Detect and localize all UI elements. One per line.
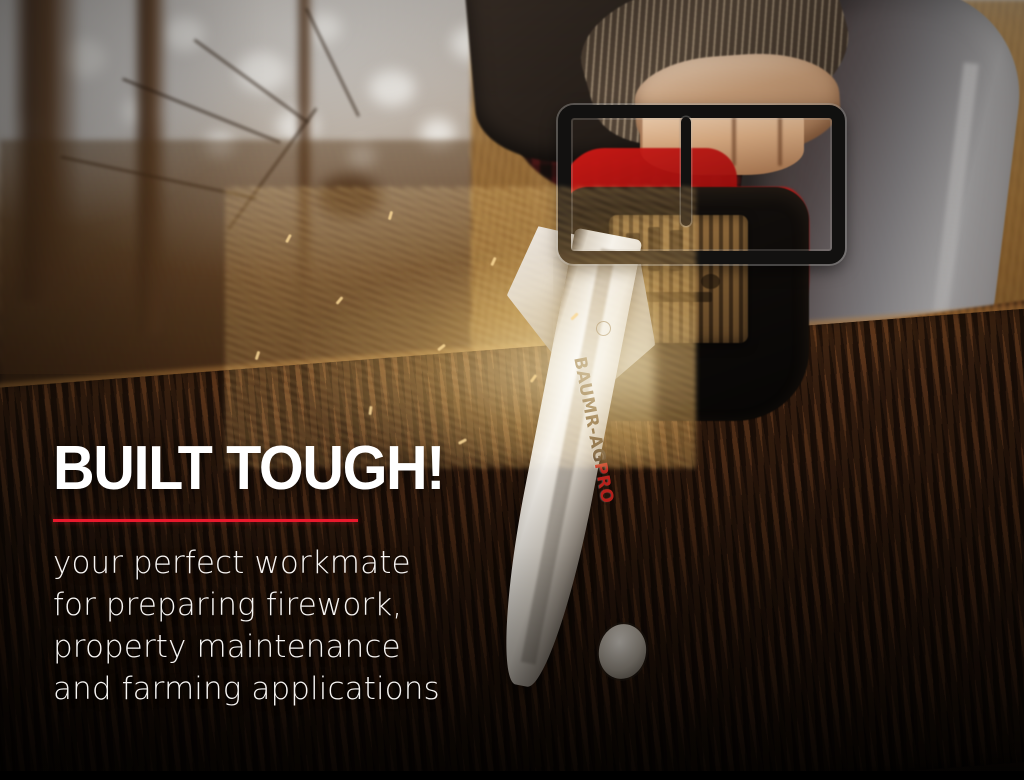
bottom-black-bar (0, 771, 1024, 780)
headline: BUILT TOUGH! (53, 438, 444, 500)
sawdust-core-glow (307, 257, 655, 460)
promo-banner: BAUMR-AGPRO BUILT TOUGH! your perfect wo… (0, 0, 1024, 780)
marketing-copy-block: BUILT TOUGH! your perfect workmate for p… (53, 438, 474, 710)
red-divider-rule (53, 519, 358, 522)
subheadline: your perfect workmate for preparing fire… (53, 542, 474, 710)
